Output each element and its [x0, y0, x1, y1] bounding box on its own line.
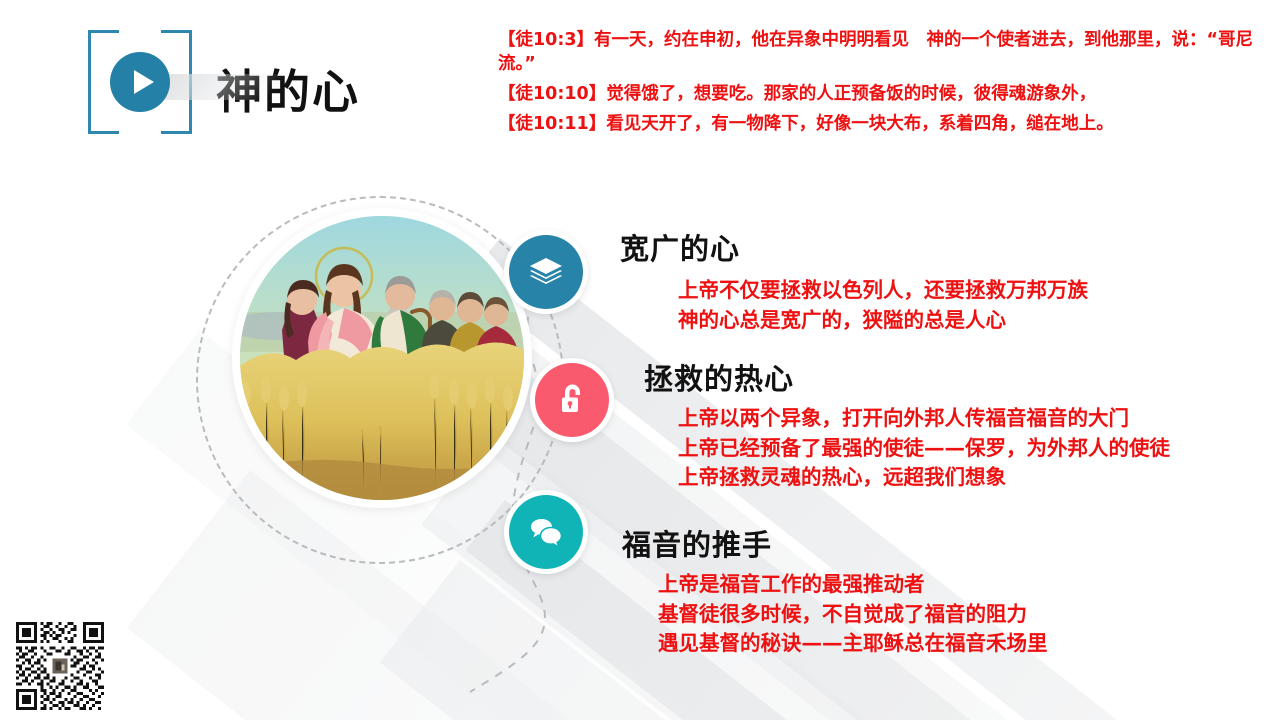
play-triangle-icon	[134, 70, 154, 94]
chat-bubbles-icon[interactable]	[509, 495, 583, 569]
jesus-in-wheat-field-photo	[240, 216, 524, 500]
section-line: 基督徒很多时候，不自觉成了福音的阻力	[658, 600, 1048, 630]
section-line: 遇见基督的秘诀——主耶稣总在福音禾场里	[658, 629, 1048, 659]
section-line: 上帝拯救灵魂的热心，远超我们想象	[678, 463, 1170, 493]
logo-block: 神的心	[88, 26, 508, 138]
section-icon-wrap[interactable]	[504, 490, 588, 574]
section-line: 神的心总是宽广的，狭隘的总是人心	[678, 306, 1088, 336]
section-icon-wrap[interactable]	[504, 230, 588, 314]
section-body: 上帝以两个异象，打开向外邦人传福音福音的大门 上帝已经预备了最强的使徒——保罗，…	[678, 404, 1170, 493]
scripture-block: 【徒10:3】有一天，约在申初，他在异象中明明看见 神的一个使者进去，到他那里，…	[498, 28, 1270, 143]
section-title: 宽广的心	[620, 226, 740, 268]
section-body: 上帝不仅要拯救以色列人，还要拯救万邦万族 神的心总是宽广的，狭隘的总是人心	[678, 276, 1088, 335]
layers-icon[interactable]	[509, 235, 583, 309]
section-title: 拯救的热心	[644, 356, 794, 398]
unlock-icon[interactable]	[535, 363, 609, 437]
section-line: 上帝已经预备了最强的使徒——保罗，为外邦人的使徒	[678, 434, 1170, 464]
section-title: 福音的推手	[622, 522, 772, 564]
section-line: 上帝不仅要拯救以色列人，还要拯救万邦万族	[678, 276, 1088, 306]
section-body: 上帝是福音工作的最强推动者 基督徒很多时候，不自觉成了福音的阻力 遇见基督的秘诀…	[658, 570, 1048, 659]
play-circle-icon	[110, 52, 170, 112]
scripture-line: 【徒10:3】有一天，约在申初，他在异象中明明看见 神的一个使者进去，到他那里，…	[498, 28, 1270, 76]
scripture-line: 【徒10:11】看见天开了，有一物降下，好像一块大布，系着四角，缒在地上。	[498, 112, 1270, 136]
qr-code[interactable]	[16, 622, 104, 710]
section-icon-wrap[interactable]	[530, 358, 614, 442]
scripture-line: 【徒10:10】觉得饿了，想要吃。那家的人正预备饭的时候，彼得魂游象外，	[498, 82, 1270, 106]
section-line: 上帝是福音工作的最强推动者	[658, 570, 1048, 600]
section-line: 上帝以两个异象，打开向外邦人传福音福音的大门	[678, 404, 1170, 434]
